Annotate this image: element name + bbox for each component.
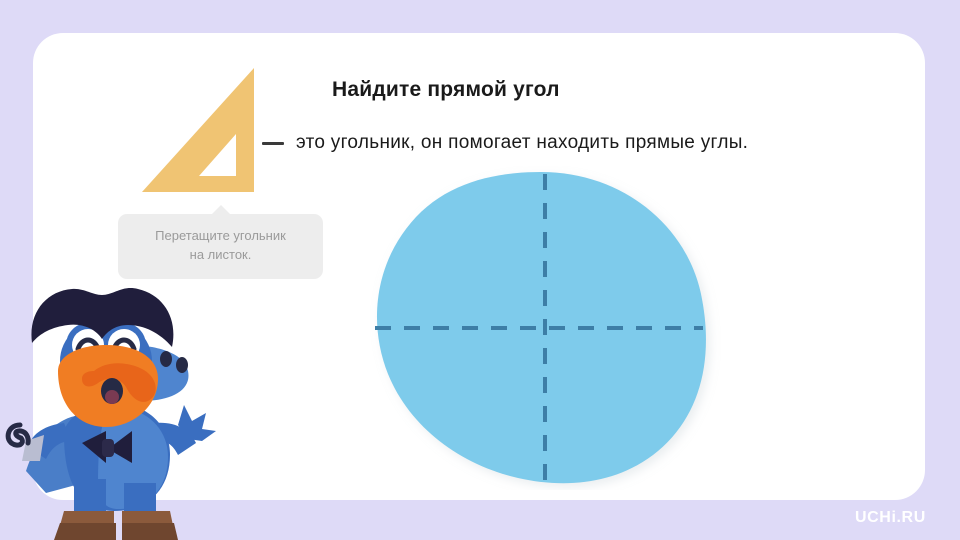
paper-blob-shape <box>366 166 726 490</box>
right-boot-sole <box>122 523 178 540</box>
subtitle-row: это угольник, он помогает находить прямы… <box>262 132 748 154</box>
drag-hint-tooltip: Перетащите угольник на листок. <box>118 214 323 279</box>
pirate-hat <box>31 288 173 347</box>
right-leg <box>124 483 156 515</box>
bowtie-knot <box>102 439 114 457</box>
nostril-right <box>176 357 188 373</box>
subtitle-text: это угольник, он помогает находить прямы… <box>296 132 748 154</box>
mascot-crocodile-pirate <box>2 283 217 540</box>
nostril-left <box>160 351 172 367</box>
hook-icon <box>8 425 28 445</box>
page-title: Найдите прямой угол <box>332 78 560 102</box>
mascot-illustration <box>2 283 217 540</box>
triangle-ruler-icon <box>136 62 266 200</box>
dash-icon <box>262 142 284 145</box>
tooltip-line-2: на листок. <box>128 246 313 265</box>
tooltip-arrow-icon <box>211 205 231 215</box>
left-leg <box>74 479 106 515</box>
tooltip-line-1: Перетащите угольник <box>128 227 313 246</box>
paper-drop-target[interactable] <box>366 166 726 490</box>
left-boot-sole <box>54 523 116 540</box>
uchi-ru-logo: UCHi.RU <box>855 509 926 527</box>
tongue <box>105 390 119 404</box>
triangle-ruler-draggable[interactable] <box>136 62 266 200</box>
